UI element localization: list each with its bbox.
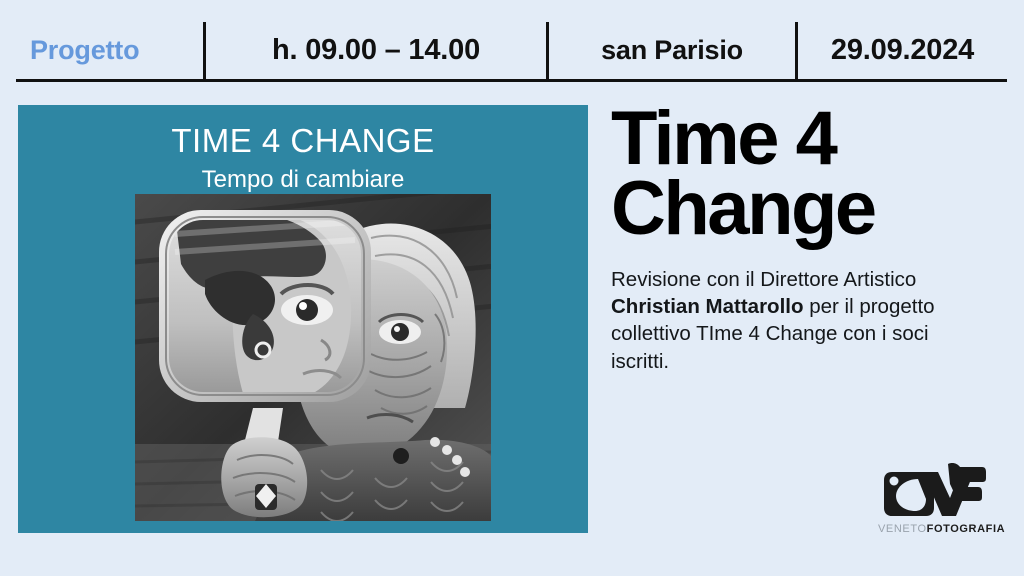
- header-bar: Progetto h. 09.00 – 14.00 san Parisio 29…: [16, 22, 1007, 82]
- photo-illustration: [135, 194, 491, 521]
- page-title-line-2: Change: [611, 166, 875, 251]
- brand-wordmark: VENETOFOTOGRAFIA: [878, 523, 1000, 535]
- description-text: Revisione con il Direttore Artistico Chr…: [611, 266, 983, 375]
- slide-root: Progetto h. 09.00 – 14.00 san Parisio 29…: [0, 0, 1024, 576]
- header-date: 29.09.2024: [798, 22, 1007, 79]
- header-time: h. 09.00 – 14.00: [206, 22, 549, 79]
- vf-camera-icon: [878, 462, 986, 518]
- brand-logo: VENETOFOTOGRAFIA: [878, 462, 1000, 535]
- page-title: Time 4 Change: [611, 104, 1011, 244]
- description-highlight-name: Christian Mattarollo: [611, 295, 804, 318]
- project-card: TIME 4 CHANGE Tempo di cambiare: [18, 105, 588, 533]
- description-part-1: Revisione con il Direttore Artistico: [611, 268, 916, 291]
- right-column: Time 4 Change Revisione con il Direttore…: [611, 104, 1011, 395]
- brand-word-veneto: VENETO: [878, 523, 927, 535]
- brand-word-fotografia: FOTOGRAFIA: [927, 523, 1006, 535]
- project-photo: [135, 194, 491, 521]
- card-title: TIME 4 CHANGE: [18, 123, 588, 159]
- card-subtitle: Tempo di cambiare: [18, 167, 588, 193]
- header-label-progetto: Progetto: [16, 22, 206, 79]
- header-place: san Parisio: [549, 22, 798, 79]
